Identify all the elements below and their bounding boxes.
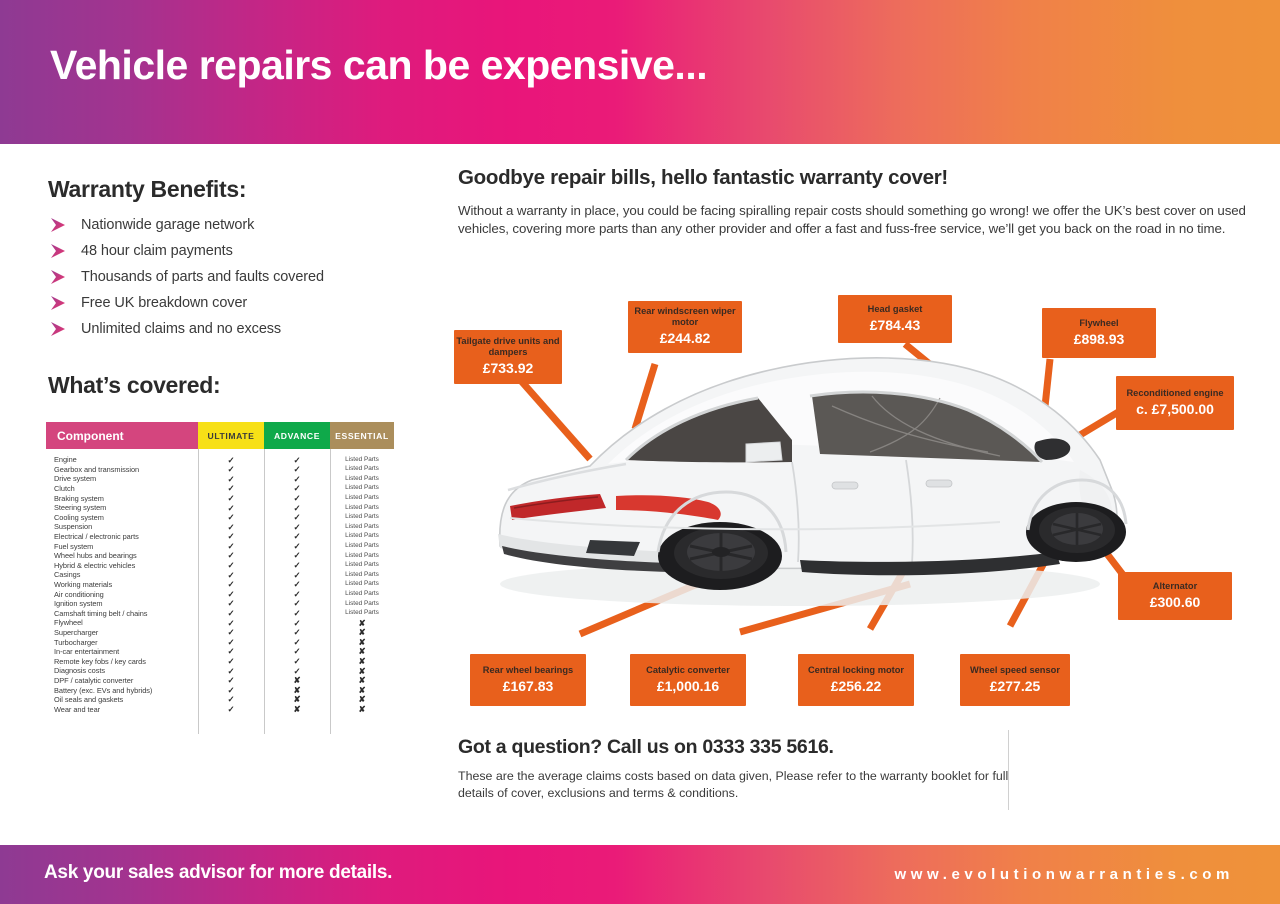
table-row: In-car entertainment✓✓✘ — [46, 647, 394, 657]
essential-mark: Listed Parts — [330, 562, 394, 568]
advance-mark: ✓ — [264, 465, 330, 474]
essential-mark: ✘ — [330, 657, 394, 666]
essential-mark: Listed Parts — [330, 514, 394, 520]
advance-mark: ✓ — [264, 475, 330, 484]
benefit-item: Unlimited claims and no excess — [48, 316, 418, 342]
advance-mark: ✓ — [264, 599, 330, 608]
essential-mark: Listed Parts — [330, 476, 394, 482]
table-row: Fuel system✓✓Listed Parts — [46, 541, 394, 551]
advance-mark: ✓ — [264, 619, 330, 628]
callout-flywheel[interactable]: Flywheel £898.93 — [1042, 308, 1156, 358]
callout-rear-windscreen-wiper-motor[interactable]: Rear windscreen wiper motor £244.82 — [628, 301, 742, 353]
ultimate-mark: ✓ — [198, 619, 264, 628]
component-name: Wheel hubs and bearings — [46, 551, 198, 560]
ultimate-mark: ✓ — [198, 542, 264, 551]
component-name: Supercharger — [46, 628, 198, 637]
advance-mark: ✓ — [264, 523, 330, 532]
essential-mark: Listed Parts — [330, 495, 394, 501]
ultimate-mark: ✓ — [198, 647, 264, 656]
ultimate-mark: ✓ — [198, 638, 264, 647]
essential-mark: Listed Parts — [330, 543, 394, 549]
essential-mark: Listed Parts — [330, 581, 394, 587]
callout-label: Catalytic converter — [646, 665, 730, 676]
essential-mark: ✘ — [330, 628, 394, 637]
callout-label: Head gasket — [868, 304, 923, 315]
top-banner: Vehicle repairs can be expensive... — [0, 0, 1280, 144]
essential-mark: ✘ — [330, 619, 394, 628]
essential-mark: Listed Parts — [330, 485, 394, 491]
component-name: Engine — [46, 455, 198, 464]
ultimate-mark: ✓ — [198, 484, 264, 493]
advance-mark: ✓ — [264, 667, 330, 676]
advance-mark: ✓ — [264, 647, 330, 656]
advance-mark: ✓ — [264, 580, 330, 589]
ultimate-mark: ✓ — [198, 551, 264, 560]
ultimate-mark: ✓ — [198, 475, 264, 484]
ultimate-mark: ✓ — [198, 609, 264, 618]
coverage-table-header: Component ULTIMATE ADVANCE ESSENTIAL — [46, 422, 394, 449]
advance-mark: ✓ — [264, 532, 330, 541]
callout-price: c. £7,500.00 — [1136, 401, 1214, 419]
left-column: Warranty Benefits: Nationwide garage net… — [0, 144, 440, 834]
component-name: Braking system — [46, 494, 198, 503]
component-name: Clutch — [46, 484, 198, 493]
component-name: Working materials — [46, 580, 198, 589]
callout-price: £1,000.16 — [657, 678, 719, 696]
contact-disclaimer: These are the average claims costs based… — [458, 768, 1018, 801]
coverage-table: Component ULTIMATE ADVANCE ESSENTIAL Eng… — [46, 422, 394, 714]
footer-cta: Ask your sales advisor for more details. — [44, 862, 392, 884]
essential-mark: ✘ — [330, 638, 394, 647]
component-name: Hybrid & electric vehicles — [46, 561, 198, 570]
advance-mark: ✓ — [264, 561, 330, 570]
banner-title: Vehicle repairs can be expensive... — [50, 43, 707, 88]
ultimate-mark: ✓ — [198, 628, 264, 637]
component-name: Electrical / electronic parts — [46, 532, 198, 541]
essential-mark: Listed Parts — [330, 466, 394, 472]
component-name: Diagnosis costs — [46, 666, 198, 675]
callout-rear-wheel-bearings[interactable]: Rear wheel bearings £167.83 — [470, 654, 586, 706]
component-name: Turbocharger — [46, 638, 198, 647]
callout-price: £784.43 — [870, 317, 921, 335]
table-row: Air conditioning✓✓Listed Parts — [46, 589, 394, 599]
ultimate-mark: ✓ — [198, 523, 264, 532]
car-illustration — [498, 358, 1126, 606]
benefit-label: 48 hour claim payments — [81, 243, 233, 259]
advance-mark: ✓ — [264, 504, 330, 513]
component-name: In-car entertainment — [46, 647, 198, 656]
component-name: Gearbox and transmission — [46, 465, 198, 474]
right-column: Goodbye repair bills, hello fantastic wa… — [440, 144, 1280, 834]
advance-mark: ✓ — [264, 551, 330, 560]
callout-price: £898.93 — [1074, 331, 1125, 349]
table-row: Electrical / electronic parts✓✓Listed Pa… — [46, 532, 394, 542]
contact-title: Got a question? Call us on 0333 335 5616… — [458, 736, 1018, 759]
advance-mark: ✘ — [264, 705, 330, 714]
callout-central-locking-motor[interactable]: Central locking motor £256.22 — [798, 654, 914, 706]
vehicle-diagram: Tailgate drive units and dampers £733.92… — [440, 284, 1280, 724]
benefit-label: Unlimited claims and no excess — [81, 321, 281, 337]
benefit-item: Nationwide garage network — [48, 212, 418, 238]
table-row: Flywheel✓✓✘ — [46, 618, 394, 628]
callout-label: Alternator — [1153, 581, 1197, 592]
chevron-right-icon — [48, 216, 74, 234]
advance-mark: ✓ — [264, 542, 330, 551]
ultimate-mark: ✓ — [198, 590, 264, 599]
component-name: Steering system — [46, 503, 198, 512]
advance-mark: ✓ — [264, 513, 330, 522]
warranty-benefits-list: Nationwide garage network48 hour claim p… — [48, 212, 418, 342]
benefit-label: Thousands of parts and faults covered — [81, 269, 324, 285]
callout-label: Tailgate drive units and dampers — [454, 336, 562, 358]
essential-mark: Listed Parts — [330, 505, 394, 511]
ultimate-mark: ✓ — [198, 599, 264, 608]
advance-mark: ✓ — [264, 590, 330, 599]
advance-mark: ✓ — [264, 484, 330, 493]
callout-price: £256.22 — [831, 678, 882, 696]
essential-mark: Listed Parts — [330, 601, 394, 607]
advance-mark: ✓ — [264, 628, 330, 637]
advance-mark: ✓ — [264, 571, 330, 580]
footer-bar: Ask your sales advisor for more details.… — [0, 845, 1280, 904]
callout-price: £244.82 — [660, 330, 711, 348]
callout-price: £300.60 — [1150, 594, 1201, 612]
poster-page: Vehicle repairs can be expensive... Warr… — [0, 0, 1280, 904]
component-name: Casings — [46, 570, 198, 579]
advance-mark: ✓ — [264, 657, 330, 666]
table-row: Gearbox and transmission✓✓Listed Parts — [46, 465, 394, 475]
callout-tailgate-drive-units[interactable]: Tailgate drive units and dampers £733.92 — [454, 330, 562, 384]
essential-mark: Listed Parts — [330, 457, 394, 463]
chevron-right-icon — [48, 320, 74, 338]
contact-vertical-rule — [1008, 730, 1009, 810]
callout-label: Rear wheel bearings — [483, 665, 573, 676]
table-row: Drive system✓✓Listed Parts — [46, 474, 394, 484]
chevron-right-icon — [48, 242, 74, 260]
table-row: Camshaft timing belt / chains✓✓Listed Pa… — [46, 609, 394, 619]
advance-mark: ✓ — [264, 494, 330, 503]
advance-mark: ✓ — [264, 638, 330, 647]
component-name: Suspension — [46, 522, 198, 531]
benefit-label: Free UK breakdown cover — [81, 295, 247, 311]
advance-mark: ✘ — [264, 695, 330, 704]
ultimate-mark: ✓ — [198, 571, 264, 580]
table-row: Suspension✓✓Listed Parts — [46, 522, 394, 532]
component-name: Drive system — [46, 474, 198, 483]
warranty-benefits-title: Warranty Benefits: — [48, 176, 246, 203]
ultimate-mark: ✓ — [198, 657, 264, 666]
table-row: Turbocharger✓✓✘ — [46, 637, 394, 647]
benefit-item: Thousands of parts and faults covered — [48, 264, 418, 290]
essential-mark: Listed Parts — [330, 524, 394, 530]
essential-mark: Listed Parts — [330, 591, 394, 597]
essential-mark: Listed Parts — [330, 533, 394, 539]
ultimate-mark: ✓ — [198, 667, 264, 676]
component-name: Flywheel — [46, 618, 198, 627]
table-row: Supercharger✓✓✘ — [46, 628, 394, 638]
table-row: Wear and tear✓✘✘ — [46, 704, 394, 714]
ultimate-mark: ✓ — [198, 494, 264, 503]
callout-catalytic-converter[interactable]: Catalytic converter £1,000.16 — [630, 654, 746, 706]
callout-price: £733.92 — [483, 360, 534, 378]
component-name: Camshaft timing belt / chains — [46, 609, 198, 618]
column-divider-1 — [198, 449, 199, 734]
essential-mark: ✘ — [330, 676, 394, 685]
table-row: Remote key fobs / key cards✓✓✘ — [46, 656, 394, 666]
component-name: Ignition system — [46, 599, 198, 608]
essential-mark: ✘ — [330, 695, 394, 704]
table-row: Working materials✓✓Listed Parts — [46, 580, 394, 590]
intro-paragraph: Without a warranty in place, you could b… — [458, 202, 1248, 238]
ultimate-mark: ✓ — [198, 676, 264, 685]
advance-mark: ✓ — [264, 609, 330, 618]
ultimate-mark: ✓ — [198, 580, 264, 589]
essential-mark: Listed Parts — [330, 553, 394, 559]
callout-label: Reconditioned engine — [1126, 388, 1223, 399]
table-row: Cooling system✓✓Listed Parts — [46, 513, 394, 523]
table-row: Hybrid & electric vehicles✓✓Listed Parts — [46, 561, 394, 571]
table-row: Braking system✓✓Listed Parts — [46, 493, 394, 503]
ultimate-mark: ✓ — [198, 561, 264, 570]
component-name: DPF / catalytic converter — [46, 676, 198, 685]
callout-reconditioned-engine[interactable]: Reconditioned engine c. £7,500.00 — [1116, 376, 1234, 430]
col-header-advance: ADVANCE — [264, 422, 330, 449]
advance-mark: ✘ — [264, 676, 330, 685]
ultimate-mark: ✓ — [198, 532, 264, 541]
coverage-table-body: Engine✓✓Listed PartsGearbox and transmis… — [46, 449, 394, 714]
essential-mark: Listed Parts — [330, 610, 394, 616]
ultimate-mark: ✓ — [198, 695, 264, 704]
callout-wheel-speed-sensor[interactable]: Wheel speed sensor £277.25 — [960, 654, 1070, 706]
column-divider-3 — [330, 449, 331, 734]
table-row: Casings✓✓Listed Parts — [46, 570, 394, 580]
essential-mark: ✘ — [330, 705, 394, 714]
whats-covered-title: What’s covered: — [48, 372, 220, 399]
table-row: Wheel hubs and bearings✓✓Listed Parts — [46, 551, 394, 561]
advance-mark: ✓ — [264, 456, 330, 465]
table-row: Battery (exc. EVs and hybrids)✓✘✘ — [46, 685, 394, 695]
component-name: Oil seals and gaskets — [46, 695, 198, 704]
ultimate-mark: ✓ — [198, 705, 264, 714]
column-divider-2 — [264, 449, 265, 734]
callout-alternator[interactable]: Alternator £300.60 — [1118, 572, 1232, 620]
essential-mark: Listed Parts — [330, 572, 394, 578]
ultimate-mark: ✓ — [198, 504, 264, 513]
component-name: Fuel system — [46, 542, 198, 551]
col-header-essential: ESSENTIAL — [330, 422, 394, 449]
callout-label: Flywheel — [1079, 318, 1118, 329]
ultimate-mark: ✓ — [198, 456, 264, 465]
essential-mark: ✘ — [330, 667, 394, 676]
callout-label: Wheel speed sensor — [970, 665, 1060, 676]
advance-mark: ✘ — [264, 686, 330, 695]
table-row: Engine✓✓Listed Parts — [46, 455, 394, 465]
col-header-ultimate: ULTIMATE — [198, 422, 264, 449]
essential-mark: ✘ — [330, 647, 394, 656]
ultimate-mark: ✓ — [198, 513, 264, 522]
footer-website-url[interactable]: www.evolutionwarranties.com — [894, 866, 1234, 883]
callout-label: Rear windscreen wiper motor — [628, 306, 742, 328]
component-name: Battery (exc. EVs and hybrids) — [46, 686, 198, 695]
component-name: Wear and tear — [46, 705, 198, 714]
component-name: Remote key fobs / key cards — [46, 657, 198, 666]
ultimate-mark: ✓ — [198, 465, 264, 474]
ultimate-mark: ✓ — [198, 686, 264, 695]
callout-price: £277.25 — [990, 678, 1041, 696]
table-row: Clutch✓✓Listed Parts — [46, 484, 394, 494]
benefit-item: Free UK breakdown cover — [48, 290, 418, 316]
component-name: Cooling system — [46, 513, 198, 522]
benefit-label: Nationwide garage network — [81, 217, 254, 233]
table-row: Ignition system✓✓Listed Parts — [46, 599, 394, 609]
intro-title: Goodbye repair bills, hello fantastic wa… — [458, 166, 948, 190]
table-row: Oil seals and gaskets✓✘✘ — [46, 695, 394, 705]
table-row: DPF / catalytic converter✓✘✘ — [46, 676, 394, 686]
benefit-item: 48 hour claim payments — [48, 238, 418, 264]
table-row: Diagnosis costs✓✓✘ — [46, 666, 394, 676]
table-row: Steering system✓✓Listed Parts — [46, 503, 394, 513]
callout-price: £167.83 — [503, 678, 554, 696]
chevron-right-icon — [48, 268, 74, 286]
callout-label: Central locking motor — [808, 665, 904, 676]
essential-mark: ✘ — [330, 686, 394, 695]
chevron-right-icon — [48, 294, 74, 312]
contact-block: Got a question? Call us on 0333 335 5616… — [458, 736, 1018, 801]
component-name: Air conditioning — [46, 590, 198, 599]
callout-head-gasket[interactable]: Head gasket £784.43 — [838, 295, 952, 343]
col-header-component: Component — [46, 422, 198, 449]
